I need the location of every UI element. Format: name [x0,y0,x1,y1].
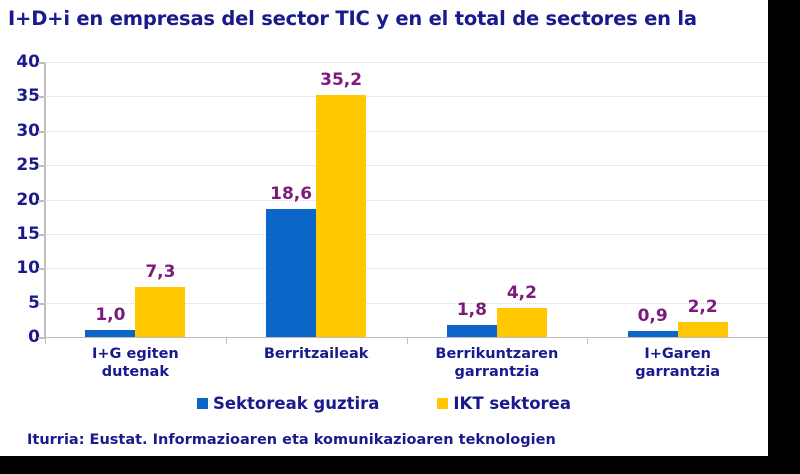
bar-1-3[interactable] [678,322,728,337]
x-axis-category-label: Berrikuntzaren garrantzia [435,345,558,381]
plot-area: 1,07,318,635,21,84,20,92,2 [45,62,768,337]
y-axis-tick-mark [38,96,45,98]
legend-label: Sektoreak guztira [213,394,379,413]
x-axis-tick-mark [587,337,588,344]
legend-swatch-icon [437,398,448,409]
legend-item-1[interactable]: IKT sektorea [437,394,571,413]
x-axis-tick-mark [407,337,408,344]
bar-value-label: 4,2 [507,283,537,303]
legend-swatch-icon [197,398,208,409]
legend-label: IKT sektorea [453,394,571,413]
bar-value-label: 0,9 [638,306,668,326]
y-axis-tick-mark [38,234,45,236]
bar-value-label: 1,8 [457,300,487,320]
chart-legend: Sektoreak guztiraIKT sektorea [0,394,768,413]
source-footnote: Iturria: Eustat. Informazioaren eta komu… [27,432,556,448]
y-axis-tick-mark [38,62,45,64]
gridline [45,131,768,132]
gridline [45,96,768,97]
x-axis-tick-mark [226,337,227,344]
gridline [45,62,768,63]
y-axis-tick-mark [38,200,45,202]
bar-value-label: 1,0 [95,305,125,325]
y-axis-tick-mark [38,165,45,167]
bar-1-1[interactable] [316,95,366,337]
y-axis-tick-mark [38,303,45,305]
chart-title: I+D+i en empresas del sector TIC y en el… [8,7,768,31]
gridline [45,234,768,235]
bar-0-0[interactable] [85,330,135,337]
bar-value-label: 7,3 [145,262,175,282]
y-axis-tick-mark [38,131,45,133]
x-axis-tick-mark [45,337,46,344]
x-axis-category-label: I+Garen garrantzia [635,345,720,381]
bar-1-0[interactable] [135,287,185,337]
bar-0-2[interactable] [447,325,497,337]
bar-1-2[interactable] [497,308,547,337]
x-axis-category-label: I+G egiten dutenak [92,345,179,381]
y-axis-tick-labels: 0510152025303540 [0,0,45,456]
gridline [45,165,768,166]
bar-value-label: 2,2 [688,297,718,317]
bar-value-label: 35,2 [320,70,362,90]
bar-0-3[interactable] [628,331,678,337]
y-axis-tick-mark [38,337,45,339]
bar-value-label: 18,6 [270,184,312,204]
y-axis-tick-mark [38,268,45,270]
legend-item-0[interactable]: Sektoreak guztira [197,394,379,413]
x-axis-category-label: Berritzaileak [264,345,369,363]
gridline [45,200,768,201]
chart-canvas: I+D+i en empresas del sector TIC y en el… [0,0,768,456]
bar-0-1[interactable] [266,209,316,337]
